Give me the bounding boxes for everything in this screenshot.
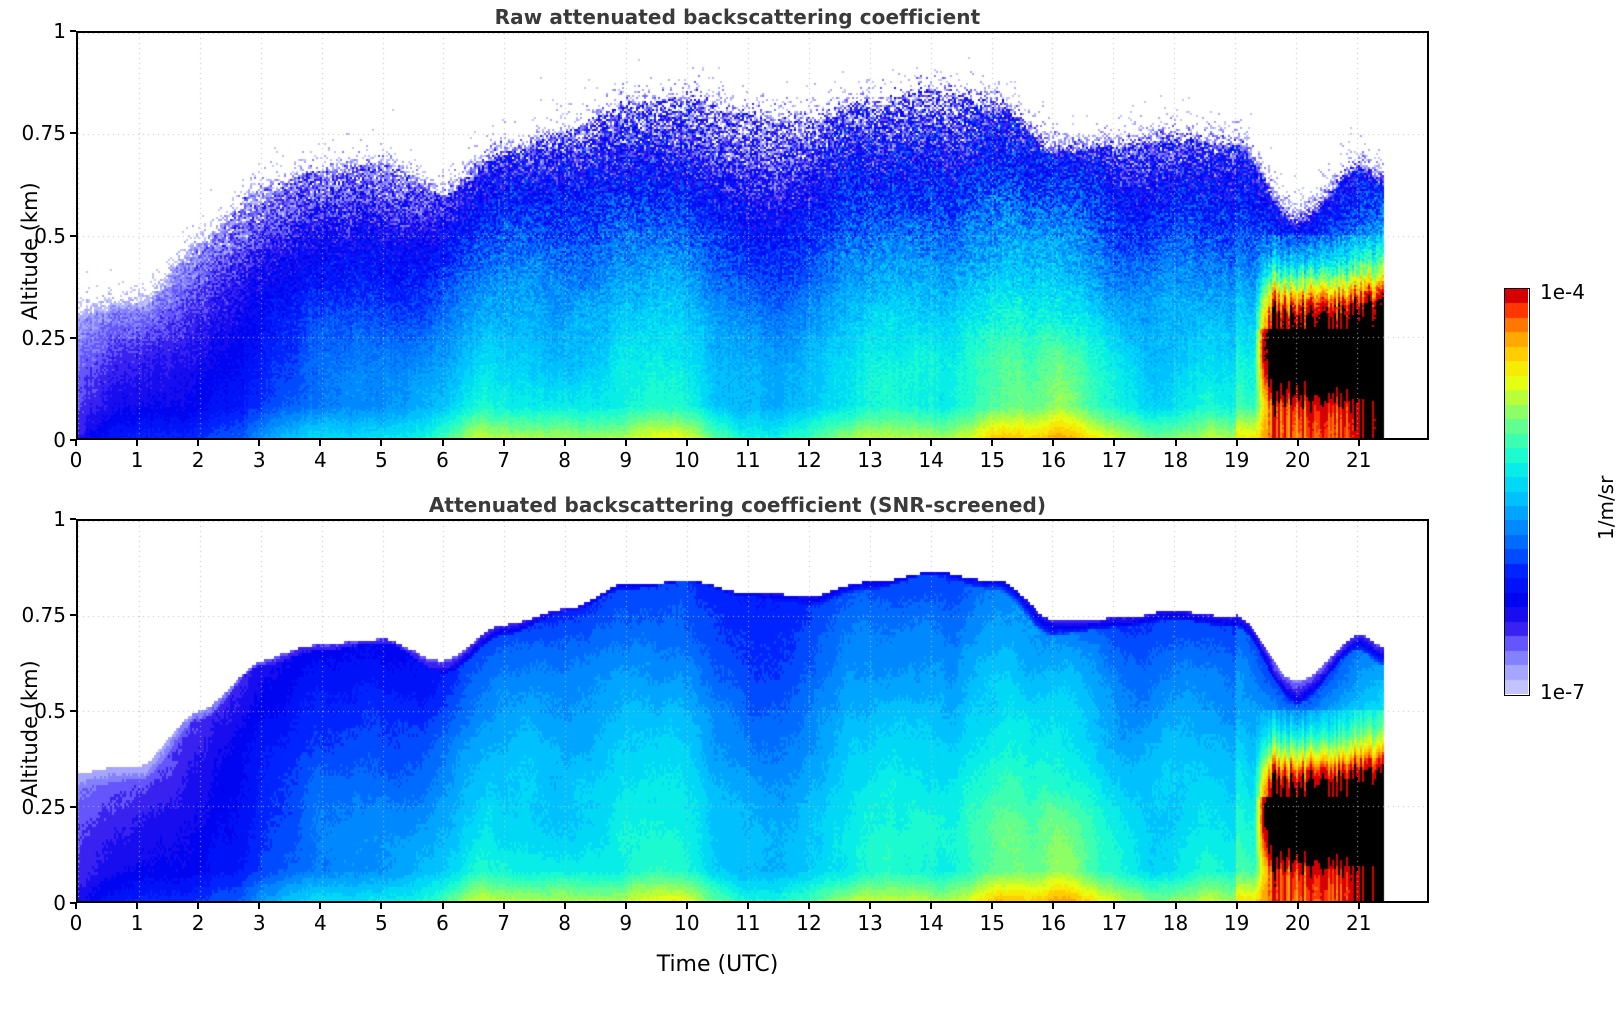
xtick-mark bbox=[197, 903, 199, 909]
xtick-label: 8 bbox=[558, 448, 571, 472]
xtick-mark bbox=[75, 903, 77, 909]
xtick-label: 10 bbox=[674, 448, 699, 472]
xtick-label: 17 bbox=[1102, 911, 1127, 935]
xtick-label: 19 bbox=[1224, 911, 1249, 935]
xtick-label: 16 bbox=[1041, 911, 1066, 935]
xtick-label: 12 bbox=[796, 911, 821, 935]
xtick-label: 11 bbox=[735, 448, 760, 472]
xtick-mark bbox=[136, 440, 138, 446]
xtick-label: 13 bbox=[857, 911, 882, 935]
xtick-label: 6 bbox=[436, 911, 449, 935]
ytick-mark bbox=[70, 337, 76, 339]
xtick-label: 11 bbox=[735, 911, 760, 935]
xtick-mark bbox=[1297, 903, 1299, 909]
xtick-mark bbox=[564, 440, 566, 446]
xtick-label: 1 bbox=[131, 911, 144, 935]
xtick-label: 18 bbox=[1163, 911, 1188, 935]
xtick-label: 8 bbox=[558, 911, 571, 935]
xtick-mark bbox=[1175, 440, 1177, 446]
xtick-label: 21 bbox=[1346, 448, 1371, 472]
figure-canvas: Raw attenuated backscattering coefficien… bbox=[0, 0, 1621, 1020]
ytick-mark bbox=[70, 806, 76, 808]
xtick-mark bbox=[808, 903, 810, 909]
xtick-label: 17 bbox=[1102, 448, 1127, 472]
xtick-mark bbox=[930, 903, 932, 909]
colorbar-max-label: 1e-4 bbox=[1540, 280, 1585, 304]
panel-screened: Attenuated backscattering coefficient (S… bbox=[0, 488, 1475, 1020]
xtick-mark bbox=[380, 440, 382, 446]
colorbar-canvas bbox=[1505, 289, 1528, 694]
xtick-mark bbox=[380, 903, 382, 909]
ytick-label: 1 bbox=[0, 19, 66, 43]
ytick-label: 0.25 bbox=[0, 795, 66, 819]
panel-screened-title: Attenuated backscattering coefficient (S… bbox=[0, 493, 1475, 517]
ytick-mark bbox=[70, 614, 76, 616]
xtick-label: 4 bbox=[314, 911, 327, 935]
xtick-label: 6 bbox=[436, 448, 449, 472]
xtick-mark bbox=[136, 903, 138, 909]
xtick-mark bbox=[1113, 440, 1115, 446]
xtick-label: 2 bbox=[192, 448, 205, 472]
colorbar-gradient bbox=[1504, 288, 1530, 696]
xtick-label: 7 bbox=[497, 448, 510, 472]
xtick-label: 13 bbox=[857, 448, 882, 472]
xtick-mark bbox=[258, 440, 260, 446]
xtick-mark bbox=[930, 440, 932, 446]
xtick-mark bbox=[319, 903, 321, 909]
xtick-label: 7 bbox=[497, 911, 510, 935]
xtick-mark bbox=[869, 903, 871, 909]
colorbar-title: 1/m/sr bbox=[1594, 476, 1618, 540]
xtick-mark bbox=[1052, 903, 1054, 909]
xtick-mark bbox=[747, 903, 749, 909]
xtick-mark bbox=[991, 903, 993, 909]
ytick-mark bbox=[70, 710, 76, 712]
ytick-mark bbox=[70, 518, 76, 520]
xaxis-label: Time (UTC) bbox=[0, 952, 1455, 977]
xtick-label: 16 bbox=[1041, 448, 1066, 472]
xtick-label: 0 bbox=[70, 448, 83, 472]
xtick-mark bbox=[808, 440, 810, 446]
xtick-label: 0 bbox=[70, 911, 83, 935]
colorbar-min-label: 1e-7 bbox=[1540, 680, 1585, 704]
xtick-label: 14 bbox=[918, 911, 943, 935]
axes-raw bbox=[76, 31, 1429, 440]
xtick-mark bbox=[625, 440, 627, 446]
xtick-mark bbox=[503, 440, 505, 446]
xtick-mark bbox=[1175, 903, 1177, 909]
xtick-label: 14 bbox=[918, 448, 943, 472]
ytick-label: 0.75 bbox=[0, 121, 66, 145]
heatmap-screened bbox=[78, 521, 1427, 901]
xtick-mark bbox=[503, 903, 505, 909]
xtick-mark bbox=[1113, 903, 1115, 909]
xtick-mark bbox=[442, 903, 444, 909]
axes-screened bbox=[76, 519, 1429, 903]
xtick-mark bbox=[625, 903, 627, 909]
panel-raw-title: Raw attenuated backscattering coefficien… bbox=[0, 5, 1475, 29]
xtick-label: 12 bbox=[796, 448, 821, 472]
xtick-mark bbox=[1236, 903, 1238, 909]
xtick-label: 3 bbox=[253, 448, 266, 472]
xtick-label: 20 bbox=[1285, 448, 1310, 472]
xtick-label: 2 bbox=[192, 911, 205, 935]
xtick-label: 10 bbox=[674, 911, 699, 935]
xtick-mark bbox=[1358, 440, 1360, 446]
xtick-mark bbox=[258, 903, 260, 909]
ytick-mark bbox=[70, 235, 76, 237]
ytick-mark bbox=[70, 30, 76, 32]
xtick-mark bbox=[869, 440, 871, 446]
xtick-label: 1 bbox=[131, 448, 144, 472]
heatmap-raw bbox=[78, 33, 1427, 438]
xtick-mark bbox=[991, 440, 993, 446]
yaxis-screened-label: Altitude (km) bbox=[18, 660, 42, 798]
xtick-mark bbox=[564, 903, 566, 909]
xtick-label: 4 bbox=[314, 448, 327, 472]
xtick-mark bbox=[686, 903, 688, 909]
xtick-label: 9 bbox=[619, 448, 632, 472]
xtick-label: 15 bbox=[980, 911, 1005, 935]
xtick-mark bbox=[75, 440, 77, 446]
xtick-label: 9 bbox=[619, 911, 632, 935]
xtick-mark bbox=[686, 440, 688, 446]
xtick-mark bbox=[319, 440, 321, 446]
xtick-mark bbox=[197, 440, 199, 446]
xtick-label: 20 bbox=[1285, 911, 1310, 935]
xtick-label: 5 bbox=[375, 448, 388, 472]
xtick-label: 18 bbox=[1163, 448, 1188, 472]
xtick-mark bbox=[1358, 903, 1360, 909]
xtick-label: 19 bbox=[1224, 448, 1249, 472]
xtick-label: 5 bbox=[375, 911, 388, 935]
xtick-mark bbox=[1052, 440, 1054, 446]
xtick-mark bbox=[1236, 440, 1238, 446]
xtick-label: 3 bbox=[253, 911, 266, 935]
ytick-label: 0 bbox=[0, 891, 66, 915]
xtick-mark bbox=[747, 440, 749, 446]
xtick-label: 21 bbox=[1346, 911, 1371, 935]
panel-raw: Raw attenuated backscattering coefficien… bbox=[0, 0, 1475, 480]
ytick-mark bbox=[70, 132, 76, 134]
xtick-mark bbox=[1297, 440, 1299, 446]
ytick-label: 0.75 bbox=[0, 603, 66, 627]
ytick-label: 0 bbox=[0, 428, 66, 452]
xtick-mark bbox=[442, 440, 444, 446]
xtick-label: 15 bbox=[980, 448, 1005, 472]
yaxis-raw-label: Altitude (km) bbox=[18, 182, 42, 320]
ytick-label: 1 bbox=[0, 507, 66, 531]
ytick-label: 0.25 bbox=[0, 326, 66, 350]
colorbar: 1e-4 1e-7 1/m/sr bbox=[1480, 0, 1621, 1020]
